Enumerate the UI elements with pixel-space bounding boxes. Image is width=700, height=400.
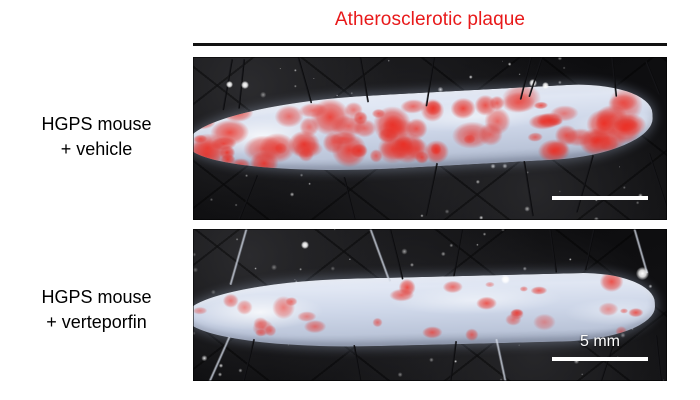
pin-head-glint — [241, 81, 249, 89]
pin-head-glint — [226, 81, 233, 88]
pin-head-glint — [542, 82, 549, 89]
figure-root: Atherosclerotic plaque HGPS mouse + vehi… — [0, 0, 700, 400]
row-label-vehicle-line1: HGPS mouse — [41, 114, 151, 134]
row-label-verteporfin: HGPS mouse + verteporfin — [4, 285, 189, 335]
scale-bar-vehicle — [552, 196, 648, 200]
row-label-vehicle: HGPS mouse + vehicle — [4, 112, 189, 162]
pin-head-glint — [636, 267, 649, 280]
pin-head-glint — [301, 241, 309, 249]
column-header: Atherosclerotic plaque — [193, 8, 667, 32]
row-label-verteporfin-line2: + verteporfin — [4, 310, 189, 335]
pin-head-glint — [501, 275, 510, 284]
scale-bar-label: 5 mm — [552, 332, 648, 352]
plaque-staining — [193, 80, 655, 179]
aorta-panel-vehicle — [193, 57, 667, 220]
scale-bar-verteporfin — [552, 357, 648, 361]
header-rule — [193, 43, 667, 46]
aorta-panel-verteporfin: 5 mm — [193, 229, 667, 381]
aorta-vessel — [193, 80, 655, 179]
row-label-vehicle-line2: + vehicle — [4, 137, 189, 162]
column-header-title: Atherosclerotic plaque — [193, 8, 667, 32]
row-label-verteporfin-line1: HGPS mouse — [41, 287, 151, 307]
